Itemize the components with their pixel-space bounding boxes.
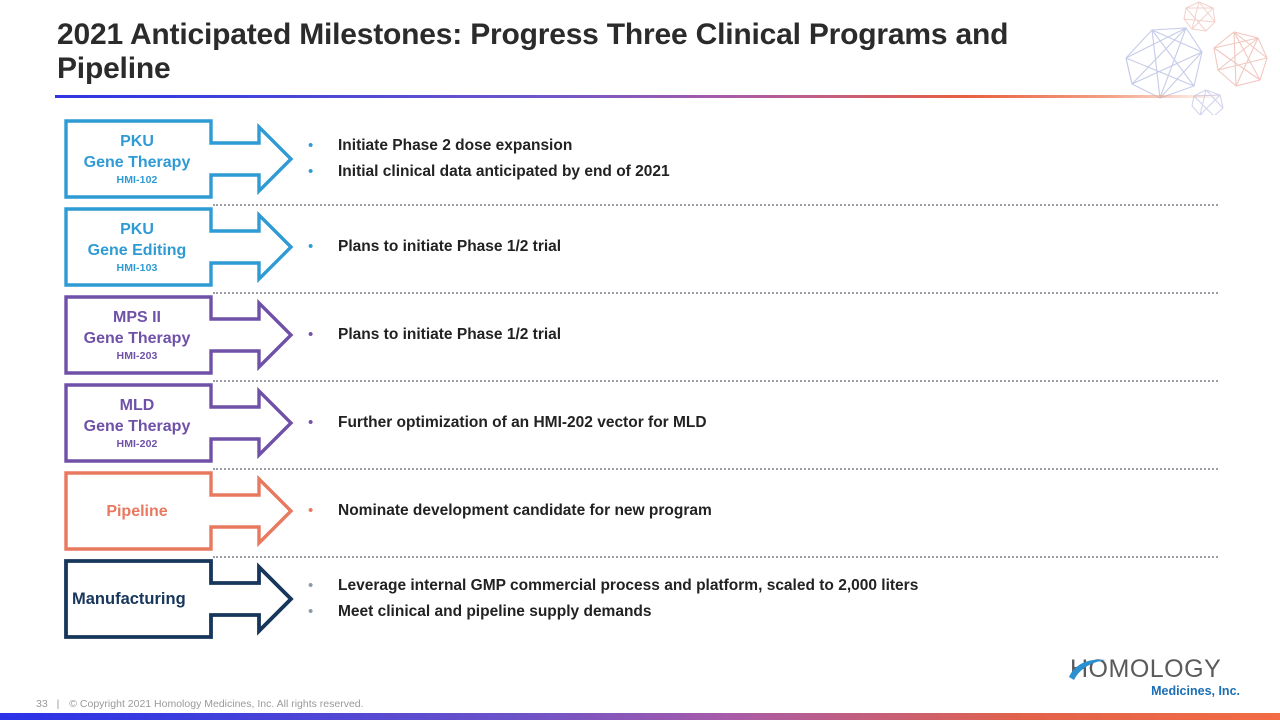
- bottom-gradient-bar: [0, 713, 1280, 720]
- copyright-text: © Copyright 2021 Homology Medicines, Inc…: [69, 698, 363, 710]
- logo-wordmark-wrap: HOMOLOGY: [1070, 656, 1242, 683]
- bullet-dot-icon: •: [308, 601, 338, 623]
- milestone-rows: PKU Gene Therapy HMI-102 • Initiate Phas…: [0, 118, 1280, 646]
- bullet-item: • Leverage internal GMP commercial proce…: [308, 575, 1220, 597]
- bullet-text: Nominate development candidate for new p…: [338, 500, 712, 522]
- milestone-row: MPS II Gene Therapy HMI-203 • Plans to i…: [0, 294, 1280, 382]
- bullet-item: • Further optimization of an HMI-202 vec…: [308, 412, 1220, 434]
- arrow-shape-icon: [63, 382, 295, 464]
- arrow-path: [66, 473, 291, 549]
- bullet-dot-icon: •: [308, 135, 338, 157]
- bullet-dot-icon: •: [308, 500, 338, 522]
- program-arrow-box[interactable]: PKU Gene Therapy HMI-102: [63, 118, 295, 200]
- logo-tagline: Medicines, Inc.: [1070, 683, 1242, 699]
- arrow-shape-icon: [63, 294, 295, 376]
- footer-divider: |: [57, 698, 60, 710]
- bullet-dot-icon: •: [308, 412, 338, 434]
- footer-copyright: 33 | © Copyright 2021 Homology Medicines…: [36, 698, 364, 710]
- company-logo: HOMOLOGY Medicines, Inc.: [1070, 656, 1242, 704]
- bullet-text: Plans to initiate Phase 1/2 trial: [338, 236, 561, 258]
- program-arrow-box[interactable]: Manufacturing: [63, 558, 295, 640]
- milestone-bullets: • Further optimization of an HMI-202 vec…: [308, 382, 1220, 464]
- bullet-text: Initiate Phase 2 dose expansion: [338, 135, 572, 157]
- bullet-text: Plans to initiate Phase 1/2 trial: [338, 324, 561, 346]
- bullet-text: Further optimization of an HMI-202 vecto…: [338, 412, 707, 434]
- milestone-row: Manufacturing • Leverage internal GMP co…: [0, 558, 1280, 646]
- milestone-bullets: • Plans to initiate Phase 1/2 trial: [308, 206, 1220, 288]
- bullet-item: • Initial clinical data anticipated by e…: [308, 161, 1220, 183]
- bullet-text: Meet clinical and pipeline supply demand…: [338, 601, 652, 623]
- bullet-dot-icon: •: [308, 236, 338, 258]
- slide-canvas: 2021 Anticipated Milestones: Progress Th…: [0, 0, 1280, 720]
- bullet-item: • Meet clinical and pipeline supply dema…: [308, 601, 1220, 623]
- milestone-bullets: • Leverage internal GMP commercial proce…: [308, 558, 1220, 640]
- arrow-path: [66, 209, 291, 285]
- page-title: 2021 Anticipated Milestones: Progress Th…: [57, 18, 1067, 86]
- bullet-item: • Plans to initiate Phase 1/2 trial: [308, 324, 1220, 346]
- page-number: 33: [36, 698, 48, 710]
- milestone-row: MLD Gene Therapy HMI-202 • Further optim…: [0, 382, 1280, 470]
- arrow-shape-icon: [63, 558, 295, 640]
- bullet-text: Leverage internal GMP commercial process…: [338, 575, 918, 597]
- arrow-path: [66, 385, 291, 461]
- milestone-bullets: • Plans to initiate Phase 1/2 trial: [308, 294, 1220, 376]
- program-arrow-box[interactable]: PKU Gene Editing HMI-103: [63, 206, 295, 288]
- milestone-row: Pipeline • Nominate development candidat…: [0, 470, 1280, 558]
- arrow-path: [66, 297, 291, 373]
- arrow-shape-icon: [63, 118, 295, 200]
- milestone-row: PKU Gene Therapy HMI-102 • Initiate Phas…: [0, 118, 1280, 206]
- program-arrow-box[interactable]: Pipeline: [63, 470, 295, 552]
- bullet-dot-icon: •: [308, 575, 338, 597]
- bullet-item: • Initiate Phase 2 dose expansion: [308, 135, 1220, 157]
- program-arrow-box[interactable]: MLD Gene Therapy HMI-202: [63, 382, 295, 464]
- milestone-bullets: • Nominate development candidate for new…: [308, 470, 1220, 552]
- logo-swoosh-icon: [1068, 657, 1110, 685]
- bullet-text: Initial clinical data anticipated by end…: [338, 161, 670, 183]
- arrow-shape-icon: [63, 206, 295, 288]
- arrow-path: [66, 121, 291, 197]
- milestone-bullets: • Initiate Phase 2 dose expansion • Init…: [308, 118, 1220, 200]
- title-divider: [55, 95, 1225, 98]
- arrow-shape-icon: [63, 470, 295, 552]
- bullet-item: • Nominate development candidate for new…: [308, 500, 1220, 522]
- bullet-dot-icon: •: [308, 324, 338, 346]
- arrow-path: [66, 561, 291, 637]
- program-arrow-box[interactable]: MPS II Gene Therapy HMI-203: [63, 294, 295, 376]
- milestone-row: PKU Gene Editing HMI-103 • Plans to init…: [0, 206, 1280, 294]
- bullet-dot-icon: •: [308, 161, 338, 183]
- bullet-item: • Plans to initiate Phase 1/2 trial: [308, 236, 1220, 258]
